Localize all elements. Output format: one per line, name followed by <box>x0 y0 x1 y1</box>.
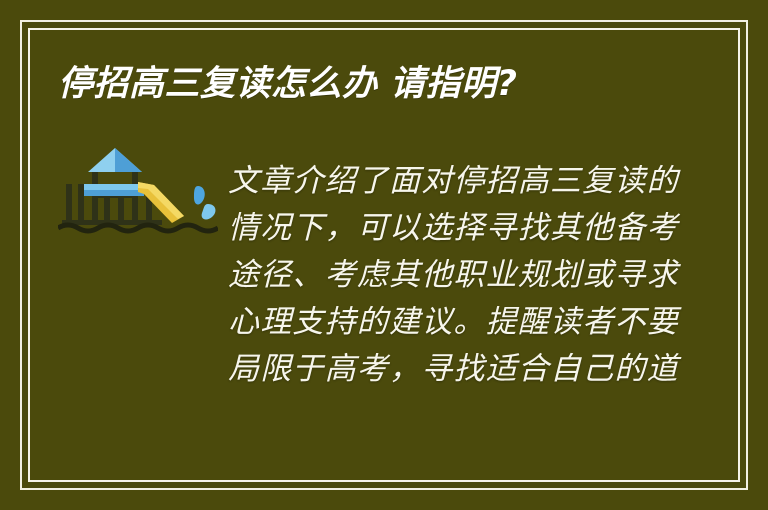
summary-line: 局限于高考，寻找适合自己的道 <box>228 346 652 393</box>
summary-line: 情况下，可以选择寻找其他备考 <box>228 205 652 252</box>
summary-line: 途径、考虑其他职业规划或寻求 <box>228 252 652 299</box>
water-slide-illustration <box>58 140 218 240</box>
article-summary-text: 文章介绍了面对停招高三复读的 情况下，可以选择寻找其他备考 途径、考虑其他职业规… <box>228 158 652 393</box>
article-summary-card: 停招高三复读怎么办 请指明? <box>0 0 768 510</box>
summary-line: 心理支持的建议。提醒读者不要 <box>228 299 652 346</box>
page-title: 停招高三复读怎么办 请指明? <box>58 62 698 106</box>
summary-line: 文章介绍了面对停招高三复读的 <box>228 158 652 205</box>
